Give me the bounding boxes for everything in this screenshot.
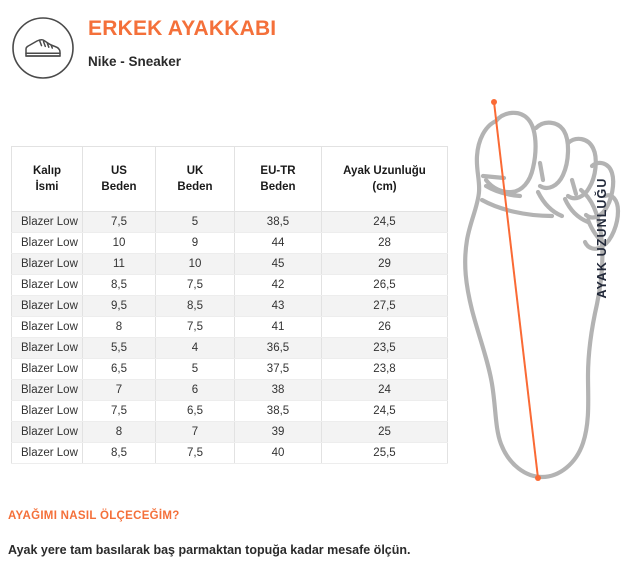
cell-us-size: 7,5: [83, 212, 156, 233]
cell-foot-length: 29: [322, 254, 448, 275]
cell-eu-tr-size: 43: [235, 296, 322, 317]
measure-line-endpoint-heel: [535, 475, 541, 481]
cell-eu-tr-size: 44: [235, 233, 322, 254]
cell-uk-size: 8,5: [156, 296, 235, 317]
cell-us-size: 10: [83, 233, 156, 254]
cell-foot-length: 26: [322, 317, 448, 338]
table-row: Blazer Low87,54126: [12, 317, 448, 338]
table-row: Blazer Low11104529: [12, 254, 448, 275]
cell-uk-size: 5: [156, 212, 235, 233]
table-row: Blazer Low5,5436,523,5: [12, 338, 448, 359]
page-title: ERKEK AYAKKABI: [88, 16, 276, 42]
cell-foot-length: 25,5: [322, 443, 448, 464]
cell-uk-size: 7,5: [156, 275, 235, 296]
cell-eu-tr-size: 41: [235, 317, 322, 338]
table-header-row: Kalıp İsmi US Beden UK Beden EU-TR Beden…: [12, 147, 448, 212]
cell-eu-tr-size: 42: [235, 275, 322, 296]
cell-us-size: 7: [83, 380, 156, 401]
cell-us-size: 8: [83, 422, 156, 443]
column-header-us-line1: US: [111, 165, 127, 177]
foot-length-measure-label: AYAK UZUNLUĞU: [592, 148, 612, 328]
table-row: Blazer Low9,58,54327,5: [12, 296, 448, 317]
cell-foot-length: 23,5: [322, 338, 448, 359]
cell-us-size: 8,5: [83, 275, 156, 296]
cell-uk-size: 6,5: [156, 401, 235, 422]
title-block: ERKEK AYAKKABI Nike - Sneaker: [88, 16, 276, 71]
table-row: Blazer Low1094428: [12, 233, 448, 254]
table-row: Blazer Low763824: [12, 380, 448, 401]
cell-mold-name: Blazer Low: [12, 254, 83, 275]
cell-mold-name: Blazer Low: [12, 212, 83, 233]
page-subtitle: Nike - Sneaker: [88, 53, 276, 71]
cell-uk-size: 5: [156, 359, 235, 380]
cell-uk-size: 7,5: [156, 317, 235, 338]
cell-us-size: 8: [83, 317, 156, 338]
table-row: Blazer Low7,56,538,524,5: [12, 401, 448, 422]
cell-foot-length: 24,5: [322, 401, 448, 422]
cell-mold-name: Blazer Low: [12, 296, 83, 317]
cell-mold-name: Blazer Low: [12, 443, 83, 464]
cell-eu-tr-size: 36,5: [235, 338, 322, 359]
cell-eu-tr-size: 37,5: [235, 359, 322, 380]
how-to-measure-heading: AYAĞIMI NASIL ÖLÇECEĞİM?: [8, 510, 180, 522]
cell-uk-size: 6: [156, 380, 235, 401]
cell-eu-tr-size: 40: [235, 443, 322, 464]
sneaker-in-circle-icon: [11, 16, 75, 80]
cell-uk-size: 10: [156, 254, 235, 275]
cell-foot-length: 24,5: [322, 212, 448, 233]
cell-mold-name: Blazer Low: [12, 233, 83, 254]
page-header: ERKEK AYAKKABI Nike - Sneaker: [0, 0, 622, 96]
column-header-eu-tr: EU-TR Beden: [235, 147, 322, 212]
cell-us-size: 8,5: [83, 443, 156, 464]
how-to-measure-instruction: Ayak yere tam basılarak baş parmaktan to…: [8, 543, 411, 557]
cell-us-size: 7,5: [83, 401, 156, 422]
cell-foot-length: 28: [322, 233, 448, 254]
cell-uk-size: 7,5: [156, 443, 235, 464]
cell-mold-name: Blazer Low: [12, 380, 83, 401]
cell-foot-length: 25: [322, 422, 448, 443]
cell-foot-length: 24: [322, 380, 448, 401]
table-row: Blazer Low8,57,54226,5: [12, 275, 448, 296]
table-body: Blazer Low7,5538,524,5Blazer Low1094428B…: [12, 212, 448, 464]
column-header-us: US Beden: [83, 147, 156, 212]
column-header-mold-line2: İsmi: [35, 181, 58, 193]
cell-us-size: 5,5: [83, 338, 156, 359]
table-header: Kalıp İsmi US Beden UK Beden EU-TR Beden…: [12, 147, 448, 212]
column-header-us-line2: Beden: [101, 181, 136, 193]
cell-mold-name: Blazer Low: [12, 317, 83, 338]
column-header-mold-line1: Kalıp: [33, 165, 61, 177]
cell-uk-size: 7: [156, 422, 235, 443]
cell-foot-length: 27,5: [322, 296, 448, 317]
column-header-foot-length: Ayak Uzunluğu (cm): [322, 147, 448, 212]
size-chart-table-container: Kalıp İsmi US Beden UK Beden EU-TR Beden…: [11, 146, 447, 464]
cell-eu-tr-size: 38: [235, 380, 322, 401]
column-header-mold: Kalıp İsmi: [12, 147, 83, 212]
cell-us-size: 11: [83, 254, 156, 275]
cell-mold-name: Blazer Low: [12, 275, 83, 296]
cell-us-size: 9,5: [83, 296, 156, 317]
cell-foot-length: 23,8: [322, 359, 448, 380]
column-header-foot-length-line2: (cm): [372, 181, 396, 193]
cell-uk-size: 9: [156, 233, 235, 254]
table-row: Blazer Low8,57,54025,5: [12, 443, 448, 464]
column-header-uk-line2: Beden: [177, 181, 212, 193]
column-header-foot-length-line1: Ayak Uzunluğu: [343, 165, 426, 177]
cell-eu-tr-size: 38,5: [235, 212, 322, 233]
table-row: Blazer Low873925: [12, 422, 448, 443]
cell-eu-tr-size: 39: [235, 422, 322, 443]
cell-foot-length: 26,5: [322, 275, 448, 296]
cell-eu-tr-size: 45: [235, 254, 322, 275]
cell-uk-size: 4: [156, 338, 235, 359]
cell-mold-name: Blazer Low: [12, 338, 83, 359]
cell-eu-tr-size: 38,5: [235, 401, 322, 422]
column-header-eu-tr-line1: EU-TR: [260, 165, 295, 177]
table-row: Blazer Low6,5537,523,8: [12, 359, 448, 380]
table-row: Blazer Low7,5538,524,5: [12, 212, 448, 233]
size-chart-table: Kalıp İsmi US Beden UK Beden EU-TR Beden…: [11, 146, 448, 464]
column-header-uk-line1: UK: [187, 165, 204, 177]
cell-mold-name: Blazer Low: [12, 422, 83, 443]
column-header-eu-tr-line2: Beden: [260, 181, 295, 193]
measure-line-endpoint-toe: [491, 99, 497, 105]
foot-length-measure-line: [494, 102, 538, 478]
cell-mold-name: Blazer Low: [12, 401, 83, 422]
cell-us-size: 6,5: [83, 359, 156, 380]
column-header-uk: UK Beden: [156, 147, 235, 212]
cell-mold-name: Blazer Low: [12, 359, 83, 380]
